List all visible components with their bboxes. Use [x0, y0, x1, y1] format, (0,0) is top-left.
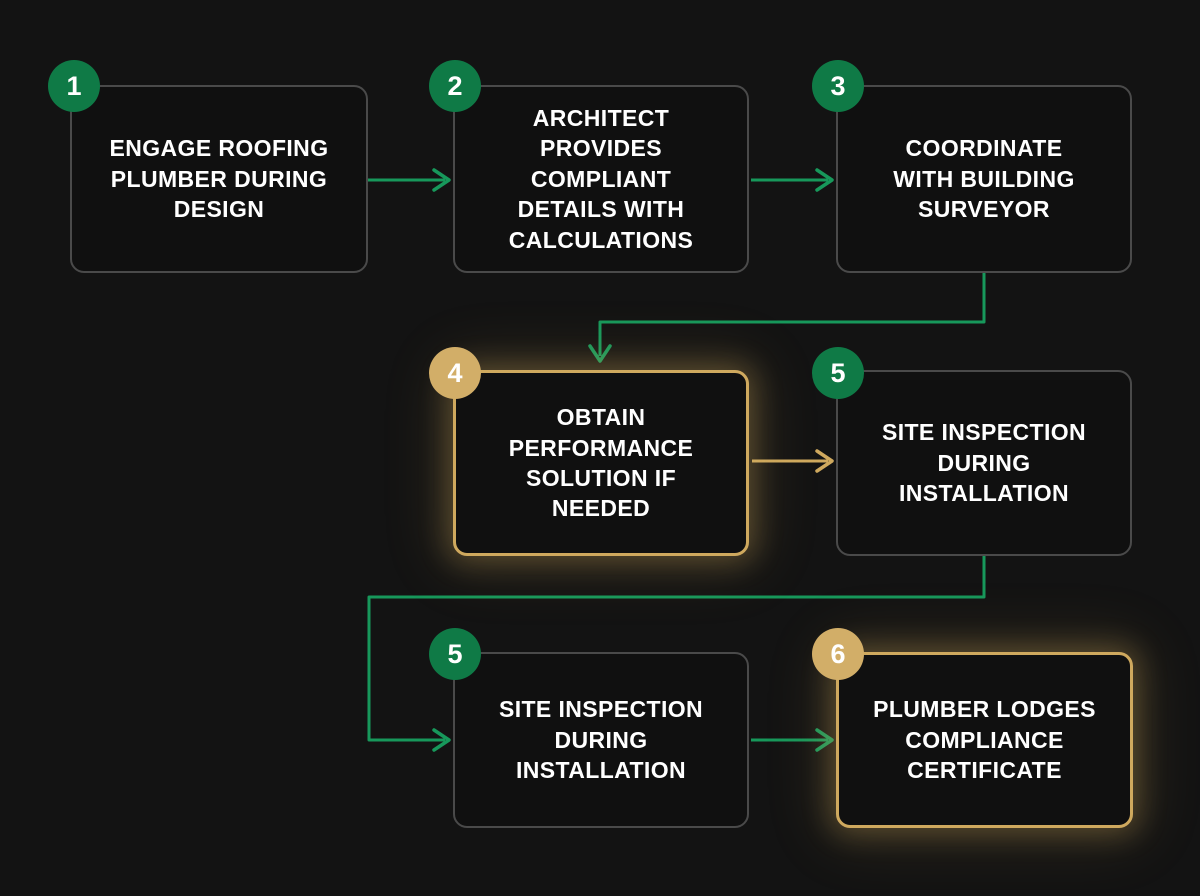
process-node-6-label: PLUMBER LODGES COMPLIANCE CERTIFICATE: [873, 694, 1096, 785]
step-badge-5b-number: 5: [447, 639, 462, 670]
step-badge-1[interactable]: 1: [48, 60, 100, 112]
step-badge-5[interactable]: 5: [812, 347, 864, 399]
connector-2-to-3: [751, 170, 832, 190]
flowchart-canvas: ENGAGE ROOFING PLUMBER DURING DESIGN 1 A…: [0, 0, 1200, 896]
process-node-5b-label: SITE INSPECTION DURING INSTALLATION: [499, 694, 703, 785]
step-badge-5-number: 5: [830, 358, 845, 389]
connector-3-to-4: [590, 273, 984, 361]
step-badge-1-number: 1: [66, 71, 81, 102]
process-node-5-label: SITE INSPECTION DURING INSTALLATION: [882, 417, 1086, 508]
process-node-5b[interactable]: SITE INSPECTION DURING INSTALLATION: [453, 652, 749, 828]
process-node-6[interactable]: PLUMBER LODGES COMPLIANCE CERTIFICATE: [836, 652, 1133, 828]
process-node-4-label: OBTAIN PERFORMANCE SOLUTION IF NEEDED: [509, 402, 694, 523]
connector-4-to-5: [752, 451, 832, 471]
step-badge-6-number: 6: [830, 639, 845, 670]
connector-5b-to-6: [751, 730, 832, 750]
process-node-3-label: COORDINATE WITH BUILDING SURVEYOR: [893, 133, 1075, 224]
step-badge-3[interactable]: 3: [812, 60, 864, 112]
step-badge-5b[interactable]: 5: [429, 628, 481, 680]
step-badge-2-number: 2: [447, 71, 462, 102]
connector-1-to-2: [368, 170, 449, 190]
step-badge-2[interactable]: 2: [429, 60, 481, 112]
step-badge-6[interactable]: 6: [812, 628, 864, 680]
process-node-2[interactable]: ARCHITECT PROVIDES COMPLIANT DETAILS WIT…: [453, 85, 749, 273]
step-badge-3-number: 3: [830, 71, 845, 102]
process-node-1[interactable]: ENGAGE ROOFING PLUMBER DURING DESIGN: [70, 85, 368, 273]
process-node-3[interactable]: COORDINATE WITH BUILDING SURVEYOR: [836, 85, 1132, 273]
process-node-2-label: ARCHITECT PROVIDES COMPLIANT DETAILS WIT…: [509, 103, 694, 255]
process-node-5[interactable]: SITE INSPECTION DURING INSTALLATION: [836, 370, 1132, 556]
step-badge-4-number: 4: [447, 358, 462, 389]
process-node-4[interactable]: OBTAIN PERFORMANCE SOLUTION IF NEEDED: [453, 370, 749, 556]
process-node-1-label: ENGAGE ROOFING PLUMBER DURING DESIGN: [109, 133, 328, 224]
step-badge-4[interactable]: 4: [429, 347, 481, 399]
